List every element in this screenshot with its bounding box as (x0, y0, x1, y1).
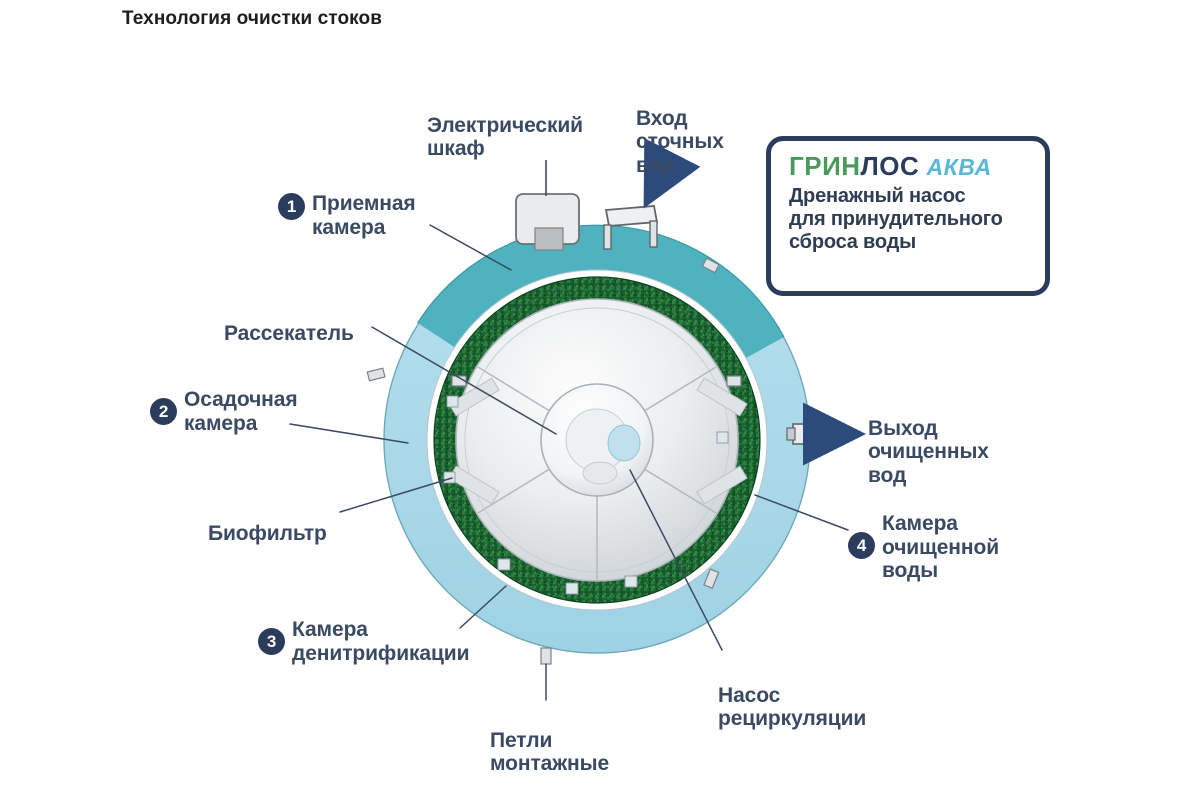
badge-2: 2 (150, 398, 177, 425)
callout-receiving-chamber: 1 Приемная камера (278, 192, 416, 239)
callout-distributor: Рассекатель (224, 298, 354, 369)
callout-biofilter-label: Биофильтр (208, 522, 327, 546)
brand-caption: Дренажный насос для принудительного сбро… (789, 185, 1029, 254)
callout-treated-water-outlet-label: Выход очищенных вод (868, 417, 989, 488)
callout-recirculation-pump: Насос рециркуляции (718, 660, 866, 754)
badge-3: 3 (258, 628, 285, 655)
callout-biofilter: Биофильтр (208, 498, 327, 569)
callout-wastewater-inlet-label: Вход сточных вод (636, 107, 724, 178)
callout-clean-water-chamber-label: Камера очищенной воды (882, 512, 999, 583)
callout-electrical-cabinet: Электрический шкаф (427, 90, 583, 184)
callout-wastewater-inlet: Вход сточных вод (636, 83, 724, 201)
callout-denitrification-chamber-label: Камера денитрификации (292, 618, 469, 665)
callout-clean-water-chamber: 4 Камера очищенной воды (848, 512, 999, 583)
callout-mounting-loops-label: Петли монтажные (490, 729, 609, 776)
callout-mounting-loops: Петли монтажные (490, 705, 609, 799)
callout-distributor-label: Рассекатель (224, 322, 354, 346)
brand-word-grin: ГРИН (789, 151, 861, 181)
brand-logo-box: ГРИНЛОС АКВА Дренажный насос для принуди… (766, 136, 1050, 296)
hub-outlet-cap (583, 462, 617, 484)
callout-recirculation-pump-label: Насос рециркуляции (718, 684, 866, 731)
diagram-canvas: Технология очистки стоков (0, 0, 1200, 800)
badge-4: 4 (848, 532, 875, 559)
brand-word-akva: АКВА (927, 154, 992, 180)
callout-denitrification-chamber: 3 Камера денитрификации (258, 618, 469, 665)
callout-sediment-chamber-label: Осадочная камера (184, 388, 298, 435)
brand-wordmark: ГРИНЛОС АКВА (789, 153, 1029, 179)
callout-treated-water-outlet: Выход очищенных вод (868, 393, 989, 511)
badge-1: 1 (278, 193, 305, 220)
callout-electrical-cabinet-label: Электрический шкаф (427, 114, 583, 161)
callout-receiving-chamber-label: Приемная камера (312, 192, 416, 239)
brand-word-los: ЛОС (861, 151, 920, 181)
callout-sediment-chamber: 2 Осадочная камера (150, 388, 298, 435)
recirculation-pump-body (608, 425, 640, 461)
